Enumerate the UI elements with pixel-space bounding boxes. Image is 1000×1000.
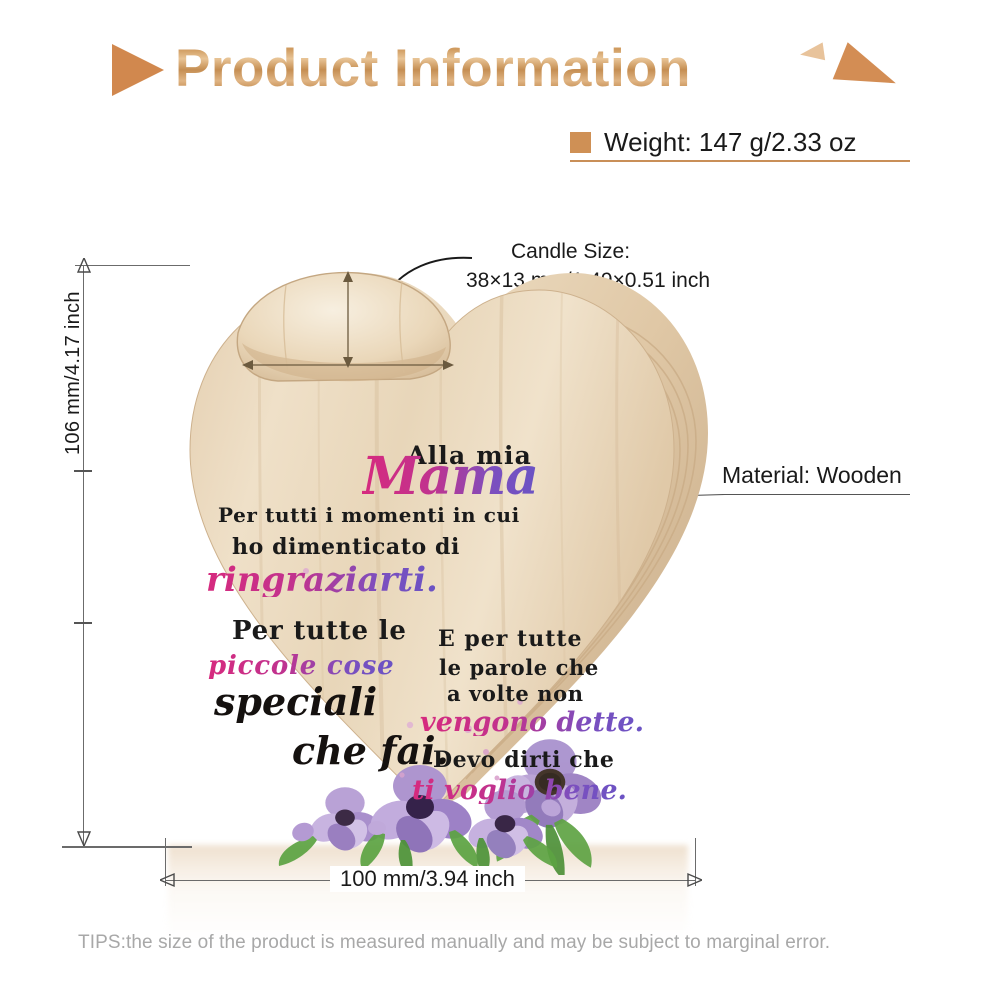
bullet-square-icon	[570, 132, 591, 153]
page-title: Product Information	[175, 38, 691, 99]
wooden-heart-illustration	[110, 255, 750, 875]
height-label-tick-top	[74, 470, 92, 472]
triangle-right-decor-icon	[833, 42, 904, 102]
triangle-small-decor-icon	[799, 42, 825, 63]
height-extension-bottom	[62, 846, 192, 848]
height-arrow-top-icon	[76, 258, 92, 276]
width-dimension-label: 100 mm/3.94 inch	[330, 866, 525, 892]
spec-weight: Weight: 147 g/2.33 oz	[570, 127, 856, 158]
spec-weight-underline	[570, 160, 910, 162]
product-information-page: Product Information Product Information …	[0, 0, 1000, 1000]
triangle-left-decor-icon	[112, 44, 164, 96]
width-arrow-right-icon	[684, 872, 702, 888]
height-dimension-label: 106 mm/4.17 inch	[62, 291, 85, 455]
height-extension-top	[75, 265, 190, 266]
spec-material-underline	[722, 494, 910, 495]
product-image: Alla mia Mama Per tutti i momenti in cui…	[110, 255, 750, 875]
tips-note: TIPS:the size of the product is measured…	[78, 932, 830, 954]
width-arrow-left-icon	[160, 872, 178, 888]
height-arrow-bottom-icon	[76, 828, 92, 846]
height-label-tick-bottom	[74, 622, 92, 624]
spec-weight-label: Weight: 147 g/2.33 oz	[604, 127, 856, 158]
